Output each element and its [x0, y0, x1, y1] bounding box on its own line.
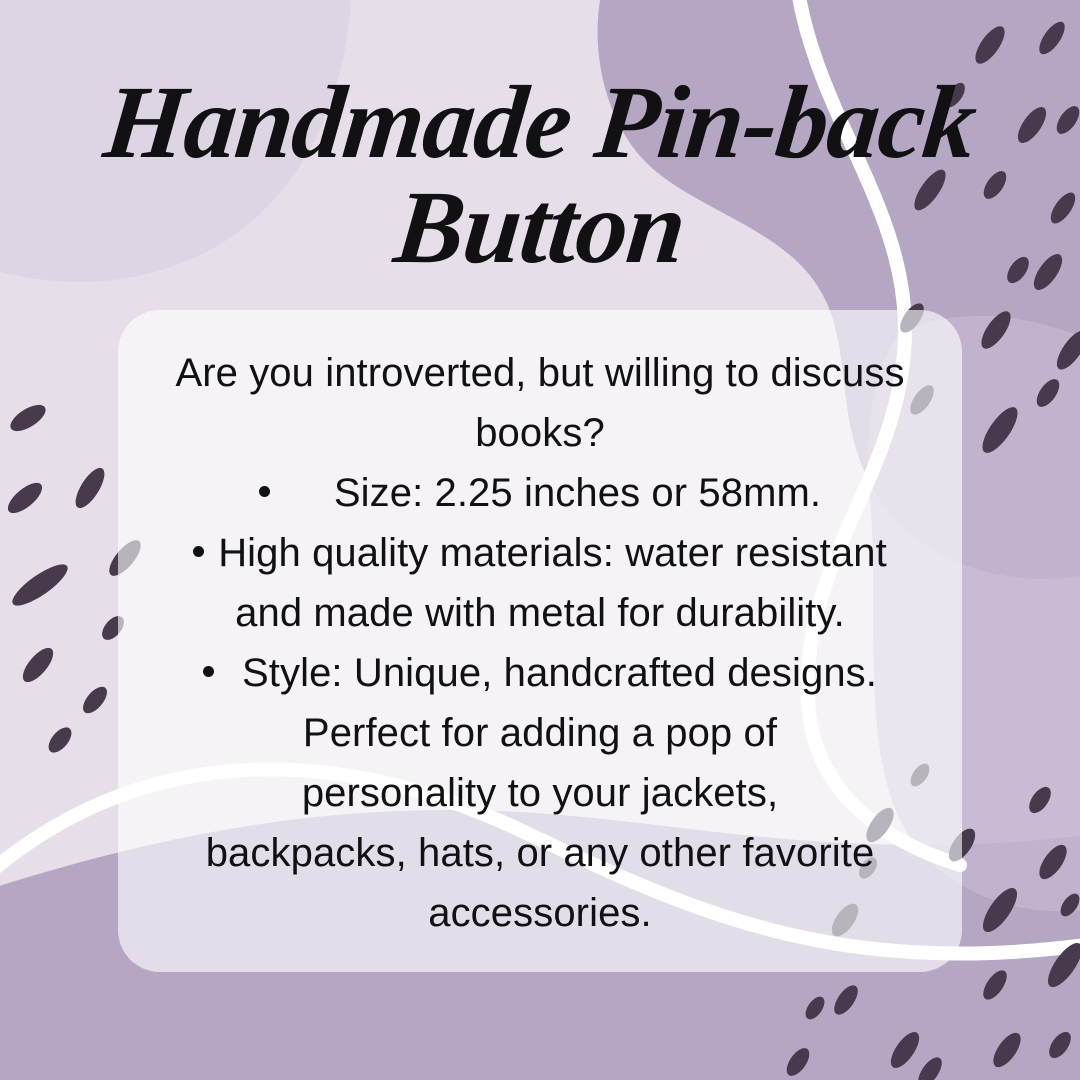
bullet-item-materials-line-2: and made with metal for durability. [130, 583, 950, 643]
bullet-marker-icon [259, 486, 270, 497]
bullet-item-style-line-3: personality to your jackets, [130, 763, 950, 823]
bullet-item-style-line-1: Style: Unique, handcrafted designs. [130, 643, 950, 703]
bullet-size-text: Size: 2.25 inches or 58mm. [334, 471, 821, 515]
intro-line-2: books? [130, 403, 950, 463]
bullet-item-style-line-4: backpacks, hats, or any other favorite [130, 823, 950, 883]
poster-canvas: Handmade Pin-back Button Are you introve… [0, 0, 1080, 1080]
bullet-item-materials-line-1: High quality materials: water resistant [130, 523, 950, 583]
product-description: Are you introverted, but willing to disc… [130, 343, 950, 943]
bullet-item-style-line-2: Perfect for adding a pop of [130, 703, 950, 763]
bullet-materials-text-1: High quality materials: water resistant [218, 531, 887, 575]
bullet-marker-icon [203, 666, 214, 677]
bullet-item-size: Size: 2.25 inches or 58mm. [130, 463, 950, 523]
bullet-item-style-line-5: accessories. [130, 883, 950, 943]
bullet-marker-icon [193, 546, 204, 557]
bullet-style-text-1: Style: Unique, handcrafted designs. [242, 651, 877, 695]
intro-line-1: Are you introverted, but willing to disc… [130, 343, 950, 403]
